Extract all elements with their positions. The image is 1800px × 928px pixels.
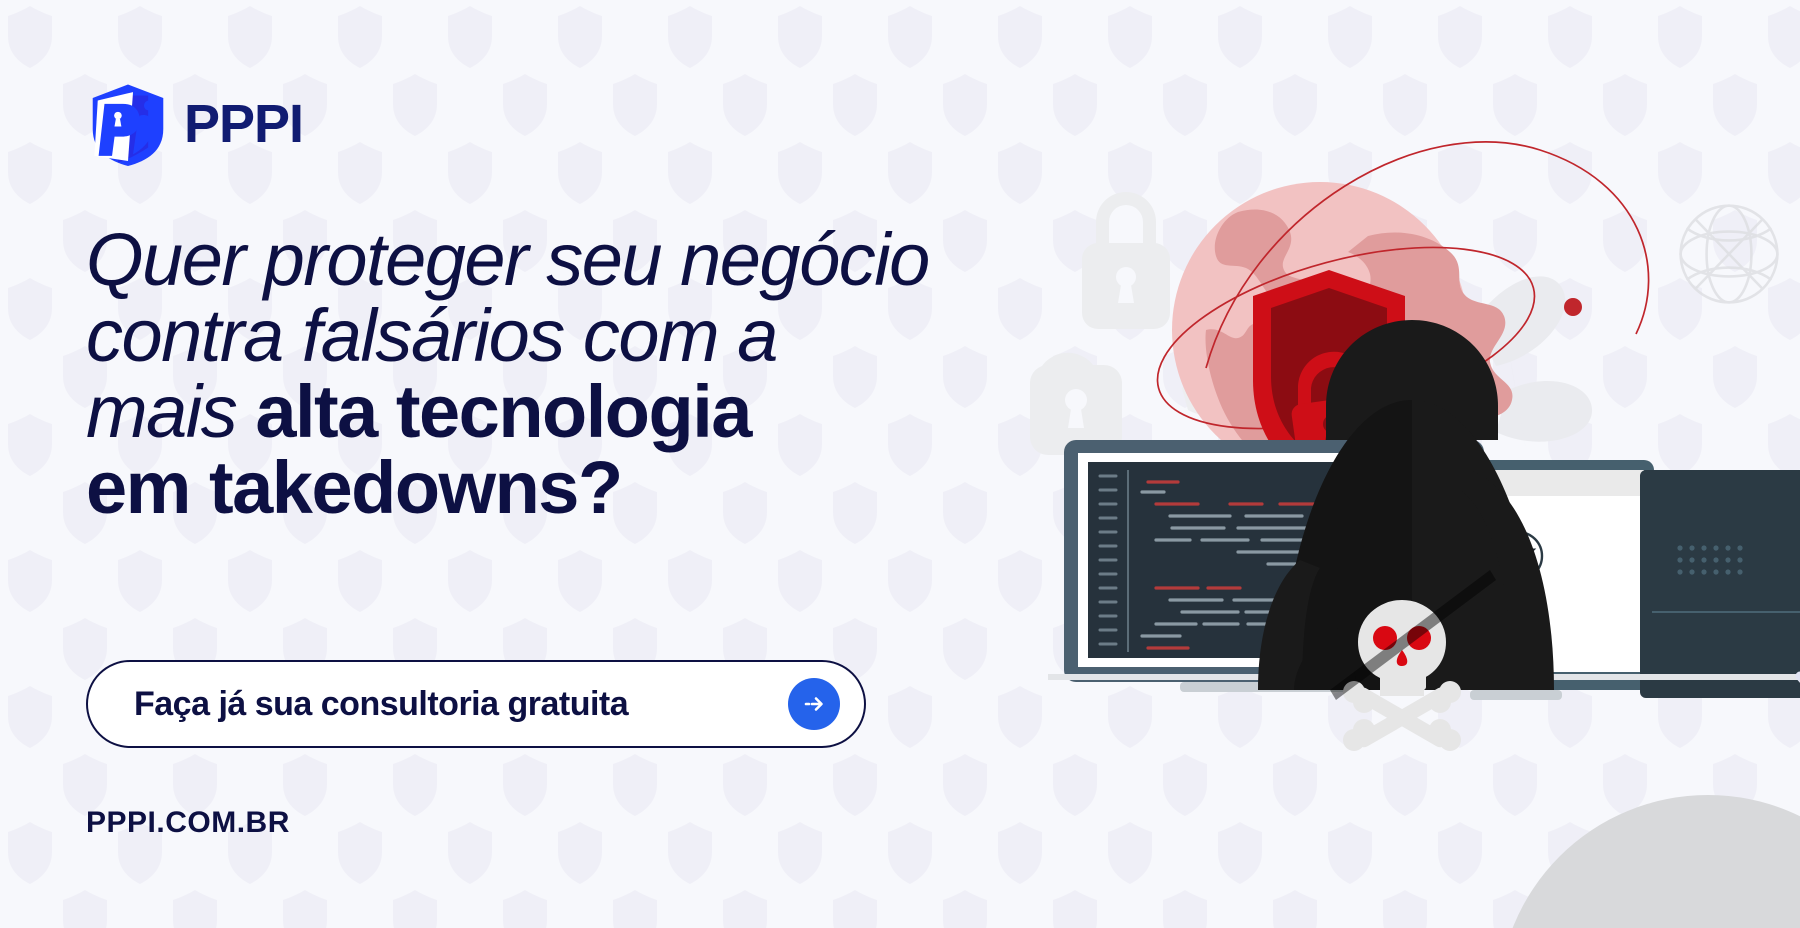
website-url[interactable]: PPPI.COM.BR xyxy=(86,806,290,840)
shield-padlock-p-logo-icon xyxy=(86,82,170,166)
orbit-node xyxy=(1564,298,1582,316)
promo-banner: ATTACK xyxy=(0,0,1800,928)
headline-line-3-bold: alta tecnologia xyxy=(255,370,751,453)
cta-button-label: Faça já sua consultoria gratuita xyxy=(134,685,788,724)
headline-line-2: contra falsários com a xyxy=(86,298,1016,374)
headline-line-1: Quer proteger seu negócio xyxy=(86,222,1016,298)
page-title: Quer proteger seu negócio contra falsári… xyxy=(86,222,1016,526)
cta-button[interactable]: Faça já sua consultoria gratuita xyxy=(86,660,866,748)
arrow-right-icon[interactable] xyxy=(788,678,840,730)
headline-line-3-italic: mais xyxy=(86,370,255,453)
hacker-illustration: ATTACK xyxy=(1000,0,1800,928)
brand-name: PPPI xyxy=(184,97,303,151)
headline-line-4: em takedowns? xyxy=(86,450,1016,526)
brand-logo[interactable]: PPPI xyxy=(86,82,303,166)
server-panel xyxy=(1640,470,1800,698)
padlock-closed-icon xyxy=(1082,192,1170,329)
headline-line-3: mais alta tecnologia xyxy=(86,374,1016,450)
